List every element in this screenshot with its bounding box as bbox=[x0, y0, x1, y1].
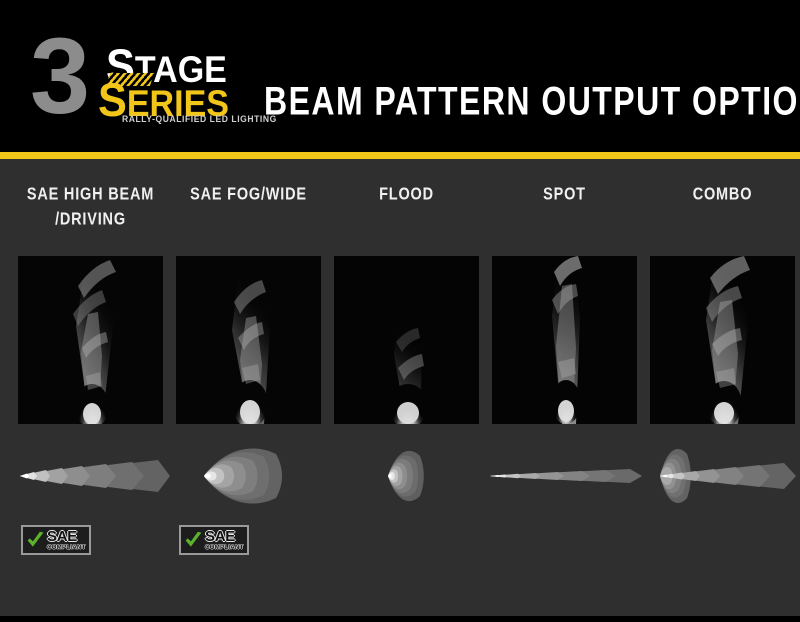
column-sae-fog-wide: SAE FOG/WIDE bbox=[176, 159, 321, 599]
sae-badge-main: SAE bbox=[205, 529, 244, 544]
footer-bar bbox=[0, 616, 800, 622]
column-label-line2: /DRIVING bbox=[0, 208, 181, 233]
beam-pattern-infographic: 3 STAGE SERIES RALLY-QUALIFIED LED LIGHT… bbox=[0, 0, 800, 622]
beam-columns: SAE HIGH BEAM /DRIVING bbox=[0, 159, 800, 599]
beam-pattern-diagram bbox=[486, 441, 644, 511]
beam-photo-thumbnail bbox=[492, 256, 637, 424]
beam-pattern-diagram bbox=[12, 441, 170, 511]
sae-badge-sub: COMPLIANT bbox=[205, 545, 244, 551]
green-checkmark-icon bbox=[183, 530, 204, 551]
column-label-line1: COMBO bbox=[632, 183, 800, 208]
sae-compliant-badge: SAE COMPLIANT bbox=[179, 525, 249, 555]
column-label-line1: SPOT bbox=[474, 183, 655, 208]
column-label: SAE HIGH BEAM /DRIVING bbox=[0, 183, 181, 233]
column-sae-high-beam-driving: SAE HIGH BEAM /DRIVING bbox=[18, 159, 163, 599]
sae-badge-text: SAE COMPLIANT bbox=[205, 529, 244, 551]
sae-badge-sub: COMPLIANT bbox=[47, 545, 86, 551]
column-flood: FLOOD bbox=[334, 159, 479, 599]
column-label-line1: FLOOD bbox=[316, 183, 497, 208]
column-label: SPOT bbox=[474, 183, 655, 208]
beam-pattern-diagram bbox=[170, 441, 328, 511]
column-spot: SPOT bbox=[492, 159, 637, 599]
beam-photo-thumbnail bbox=[650, 256, 795, 424]
column-label-line1: SAE HIGH BEAM bbox=[0, 183, 181, 208]
header-bar: 3 STAGE SERIES RALLY-QUALIFIED LED LIGHT… bbox=[0, 0, 800, 152]
beam-photo-thumbnail bbox=[176, 256, 321, 424]
sae-compliant-badge: SAE COMPLIANT bbox=[21, 525, 91, 555]
page-title: BEAM PATTERN OUTPUT OPTIONS bbox=[264, 78, 800, 124]
beam-photo-thumbnail bbox=[18, 256, 163, 424]
column-combo: COMBO bbox=[650, 159, 795, 599]
sae-badge-main: SAE bbox=[47, 529, 86, 544]
logo-numeral-3: 3 bbox=[30, 22, 86, 130]
beam-pattern-diagram bbox=[644, 441, 800, 511]
column-label-line1: SAE FOG/WIDE bbox=[158, 183, 339, 208]
yellow-divider bbox=[0, 152, 800, 159]
logo-tagline: RALLY-QUALIFIED LED LIGHTING bbox=[122, 114, 277, 124]
beam-pattern-diagram bbox=[328, 441, 486, 511]
column-label: FLOOD bbox=[316, 183, 497, 208]
column-label: COMBO bbox=[632, 183, 800, 208]
green-checkmark-icon bbox=[25, 530, 46, 551]
column-label: SAE FOG/WIDE bbox=[158, 183, 339, 208]
sae-badge-text: SAE COMPLIANT bbox=[47, 529, 86, 551]
beam-photo-thumbnail bbox=[334, 256, 479, 424]
stage-series-logo: 3 STAGE SERIES RALLY-QUALIFIED LED LIGHT… bbox=[30, 28, 240, 128]
